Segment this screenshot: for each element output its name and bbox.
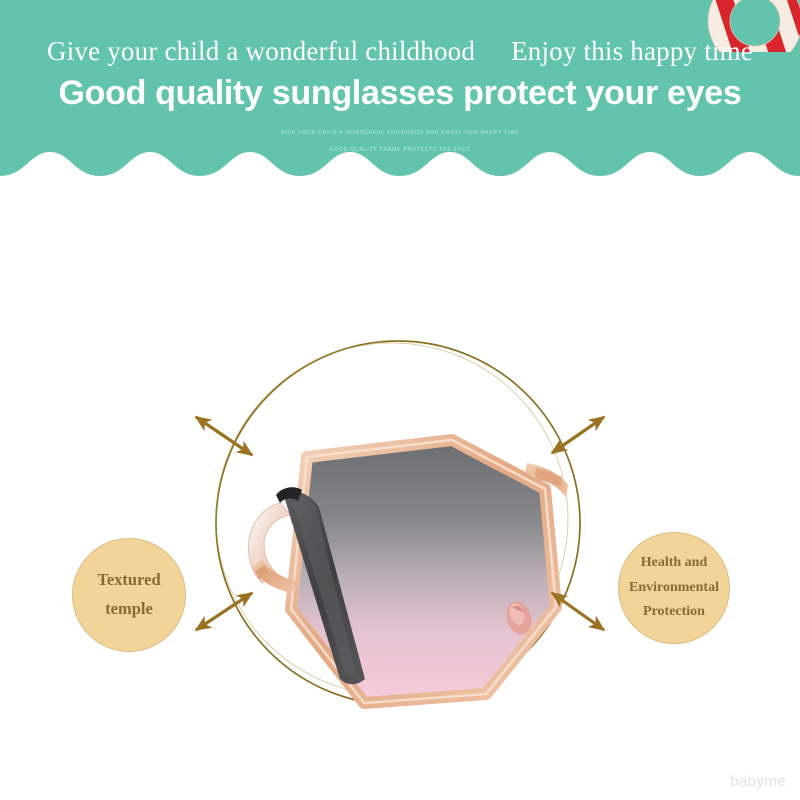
tagline-left-text: Give your child a wonderful childhood [47, 36, 475, 66]
tagline-right-text: Enjoy this happy time [511, 36, 753, 66]
wave-divider-shape [0, 150, 800, 210]
feature-label-line1: Textured [97, 566, 160, 595]
brand-watermark: babyme [730, 773, 786, 790]
arrow-health-environmental-protection [552, 417, 604, 453]
header-subline-1: GIVE YOUR CHILD A WONDERFUL CHILDHOOD AN… [0, 130, 800, 136]
feature-bubble-health-environmental-protection[interactable]: Health and Environmental Protection [618, 532, 730, 644]
feature-label-line2: temple [105, 595, 153, 624]
product-illustration [0, 205, 800, 800]
product-feature-stage: Textured temple Health and Environmental… [0, 205, 800, 800]
arrow-waterproof-filter [196, 593, 252, 630]
feature-label-line1: Health and [641, 551, 708, 576]
header-banner: Give your child a wonderful childhoodEnj… [0, 0, 800, 205]
product-banner-page: Give your child a wonderful childhoodEnj… [0, 0, 800, 800]
arrow-textured-temple [196, 417, 252, 455]
header-tagline: Give your child a wonderful childhoodEnj… [0, 36, 800, 67]
header-subline-2: GOOD QUALITY FRAME PROTECTS THE EYES [0, 147, 800, 153]
feature-label-line2: Environmental [629, 576, 719, 601]
feature-bubble-textured-temple[interactable]: Textured temple [72, 538, 186, 652]
feature-label-line3: Protection [643, 600, 705, 625]
sunglasses-product [249, 440, 569, 718]
page-title: Good quality sunglasses protect your eye… [0, 74, 800, 113]
